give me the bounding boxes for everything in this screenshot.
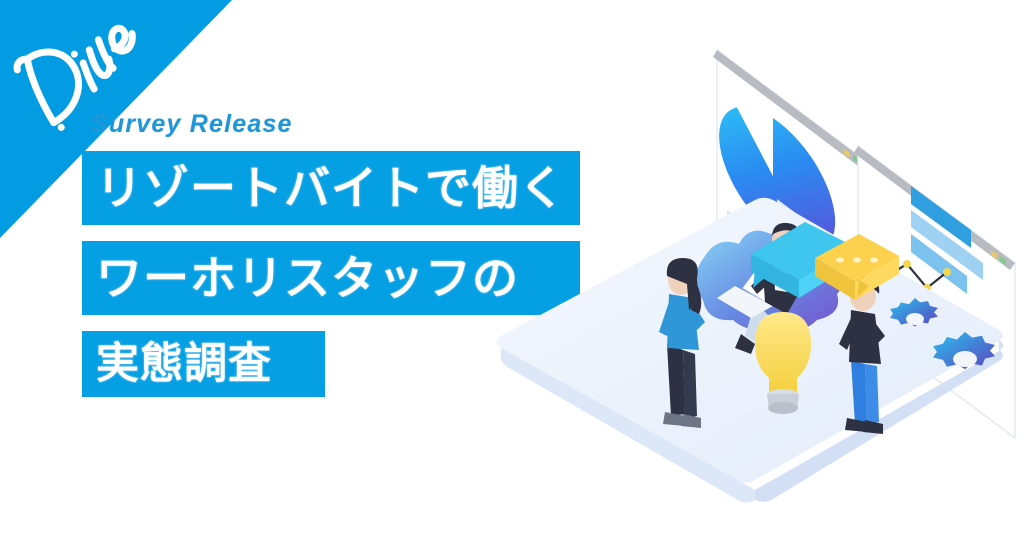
promo-banner: Survey Release リゾートバイトで働く ワーホリスタッフの 実態調査 — [0, 0, 1024, 538]
headline-line-3: 実態調査 — [82, 331, 325, 397]
isometric-data-analytics-illustration — [455, 14, 1024, 514]
